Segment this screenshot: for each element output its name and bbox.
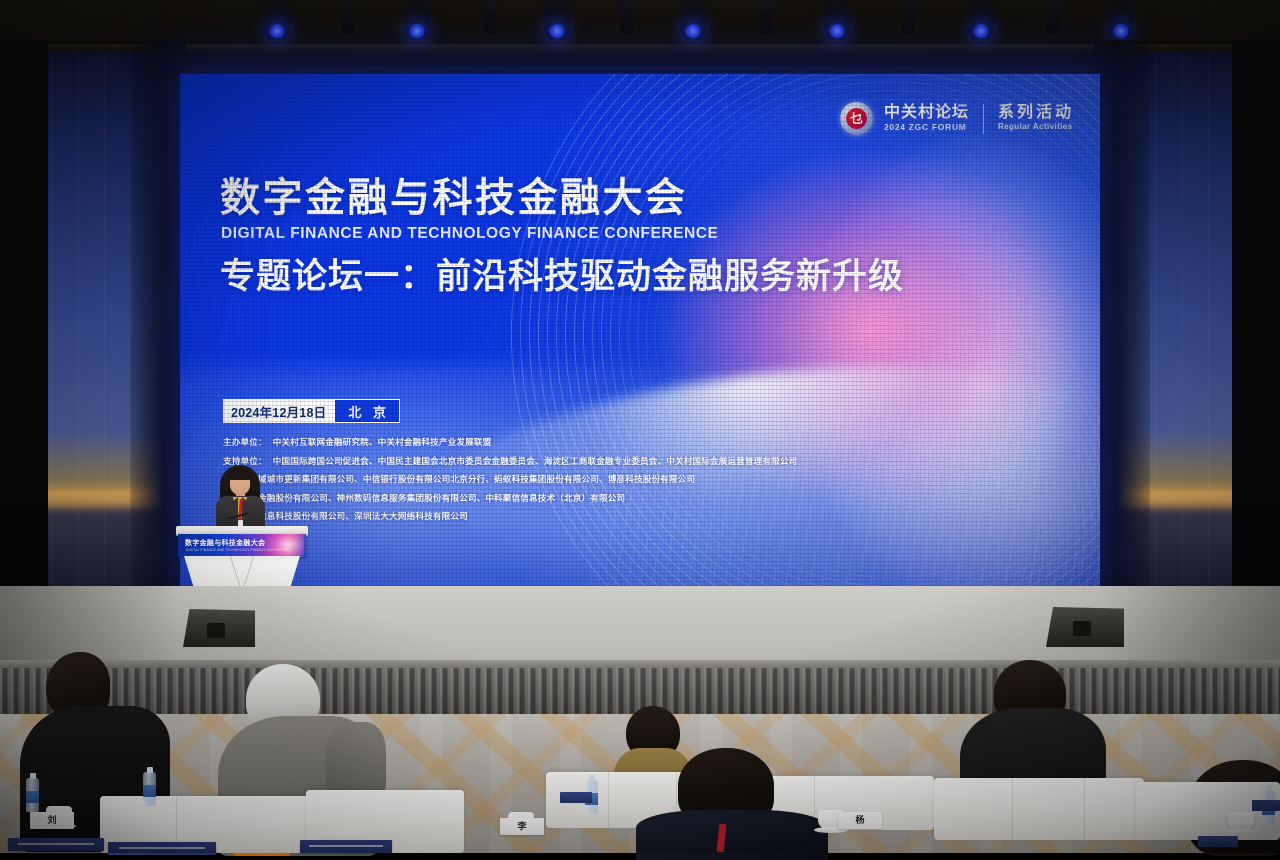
monitor-body: [183, 609, 255, 647]
ceiling-truss: [0, 0, 1280, 66]
forum-subtitle-cn: 专题论坛一：前沿科技驱动金融服务新升级: [220, 259, 904, 294]
podium-banner-title-cn: 数字金融与科技金融大会: [185, 540, 265, 547]
truss-arm: [760, 0, 773, 34]
bottle-label: [143, 785, 156, 797]
podium-banner: 数字金融与科技金融大会 DIGITAL FINANCE AND TECHNOLO…: [178, 534, 306, 557]
screen-content: 乜 中关村论坛 2024 ZGC FORUM 系列活动 Regular Acti…: [180, 74, 1100, 586]
table-card: [108, 842, 216, 855]
sofa: [1136, 782, 1280, 840]
fineprint-line: 北京海新域城市更新集团有限公司、中信银行股份有限公司北京分行、蚂蚁科技集团股份有…: [223, 475, 797, 484]
zgc-series-text: 系列活动 Regular Activities: [998, 105, 1074, 131]
truss-bar: [0, 44, 1280, 53]
zgc-emblem-icon: 乜: [840, 102, 873, 135]
table-card-small: [1198, 836, 1238, 847]
table-card: [8, 838, 104, 851]
event-date: 2024年12月18日: [223, 399, 334, 423]
stage-light: [680, 0, 706, 40]
zgc-forum-logo: 乜 中关村论坛 2024 ZGC FORUM 系列活动 Regular Acti…: [840, 102, 1074, 135]
conference-title-cn: 数字金融与科技金融大会: [220, 178, 688, 218]
conference-hall: 乜 中关村论坛 2024 ZGC FORUM 系列活动 Regular Acti…: [0, 0, 1280, 853]
zgc-series-en: Regular Activities: [998, 123, 1074, 131]
water-bottle: [143, 772, 156, 806]
led-stage-screen: 乜 中关村论坛 2024 ZGC FORUM 系列活动 Regular Acti…: [180, 74, 1100, 586]
fineprint-text: 中国国际跨国公司促进会、中国民主建国会北京市委员会金融委员会、海淀区工商联金融专…: [273, 456, 798, 466]
monitor-body: [1046, 607, 1124, 647]
fineprint-line: 支持单位：中国国际跨国公司促进会、中国民主建国会北京市委员会金融委员会、海淀区工…: [223, 457, 797, 466]
organizer-fineprint: 主办单位：中关村互联网金融研究院、中关村金融科技产业发展联盟 支持单位：中国国际…: [223, 438, 797, 531]
conference-title-en: DIGITAL FINANCE AND TECHNOLOGY FINANCE C…: [221, 226, 718, 242]
event-city: 北 京: [334, 399, 400, 423]
zgc-series-cn: 系列活动: [998, 105, 1074, 122]
stage-light: [404, 0, 430, 40]
audience-member: [632, 748, 832, 853]
fineprint-label: 主办单位：: [223, 437, 267, 447]
sofa: [934, 778, 1144, 840]
truss-arm: [341, 0, 354, 34]
teacup: [1228, 812, 1254, 831]
date-location-badge: 2024年12月18日 北 京: [223, 399, 400, 423]
wall-column-right: [1094, 40, 1150, 665]
stage-light: [264, 0, 290, 40]
truss-arm: [1046, 0, 1059, 34]
bottle-label: [26, 791, 39, 803]
fineprint-line: 主办单位：中关村互联网金融研究院、中关村金融科技产业发展联盟: [223, 438, 797, 447]
sofa-seam: [1012, 778, 1013, 840]
monitor-grille: [1073, 621, 1091, 636]
zgc-brand-text: 中关村论坛 2024 ZGC FORUM: [884, 105, 969, 132]
fineprint-line: 马上消费金融股份有限公司、神州数码信息服务集团股份有限公司、中科聚信信息技术（北…: [223, 494, 797, 503]
table-card: [300, 840, 392, 853]
podium-banner-title-en: DIGITAL FINANCE AND TECHNOLOGY FINANCE C…: [186, 549, 291, 552]
sofa-seam: [608, 772, 609, 828]
name-placard-text: 杨: [855, 816, 864, 825]
table-card-small: [560, 792, 592, 803]
sofa-seam: [1084, 778, 1085, 840]
name-placard: 李: [500, 818, 544, 835]
fineprint-line: 上海合合信息科技股份有限公司、深圳法大大网络科技有限公司: [223, 512, 797, 521]
table-card-small: [1252, 800, 1280, 811]
logo-divider: [983, 104, 984, 134]
wall-column-far-left: [0, 40, 48, 665]
truss-arm: [902, 0, 915, 34]
name-placard: 杨: [838, 812, 882, 829]
name-placard-text: 李: [517, 822, 526, 831]
name-placard-text: 刘: [47, 816, 56, 825]
fineprint-text: 中关村互联网金融研究院、中关村金融科技产业发展联盟: [273, 437, 492, 447]
speaker-bangs: [228, 468, 252, 480]
zgc-brand-cn: 中关村论坛: [884, 105, 969, 122]
zgc-brand-en: 2024 ZGC FORUM: [884, 123, 969, 132]
stage-monitor-right: [1046, 607, 1124, 647]
name-placard: 刘: [30, 812, 74, 829]
truss-arm: [484, 0, 497, 34]
stage-monitor-left: [183, 609, 255, 647]
stage-light: [1108, 0, 1134, 40]
wall-column-far-right: [1232, 40, 1280, 665]
stage-light: [824, 0, 850, 40]
water-bottle: [26, 778, 39, 812]
truss-arm: [620, 0, 633, 34]
stage-light: [544, 0, 570, 40]
stage-light: [968, 0, 994, 40]
monitor-grille: [207, 623, 225, 638]
zgc-emblem-glyph: 乜: [846, 108, 867, 129]
